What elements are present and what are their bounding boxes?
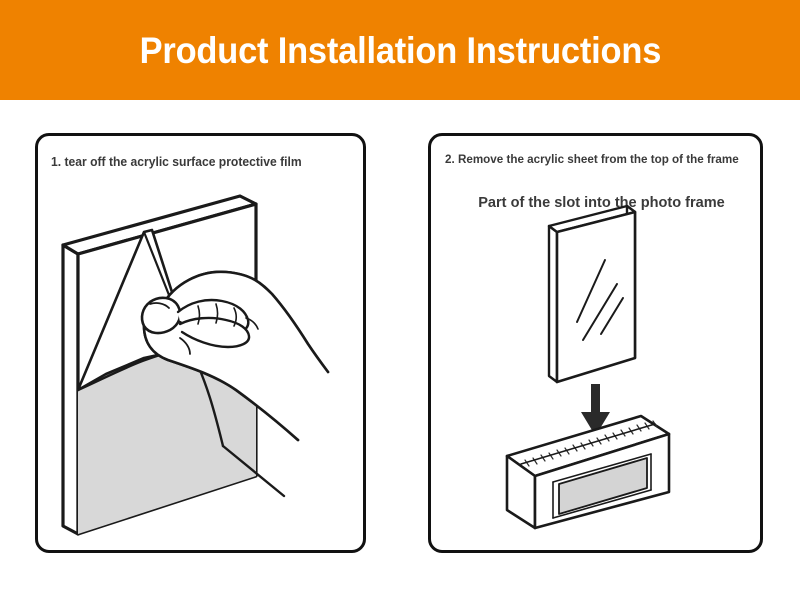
arrow-shaft (591, 384, 600, 416)
instruction-sheet: Product Installation Instructions 1. tea… (0, 0, 800, 598)
acrylic-sheet-into-frame-illustration (441, 198, 756, 550)
step-panel-1: 1. tear off the acrylic surface protecti… (35, 133, 366, 553)
step-1-caption: 1. tear off the acrylic surface protecti… (51, 154, 352, 170)
header-banner: Product Installation Instructions (0, 0, 800, 100)
sheet-left-thickness (63, 245, 78, 534)
step-panel-2: 2. Remove the acrylic sheet from the top… (428, 133, 763, 553)
step-2-caption: 2. Remove the acrylic sheet from the top… (445, 152, 744, 167)
acrylic-sheet-peel-film-illustration (40, 178, 366, 550)
clear-sheet-face (557, 212, 635, 382)
page-title: Product Installation Instructions (139, 32, 661, 69)
